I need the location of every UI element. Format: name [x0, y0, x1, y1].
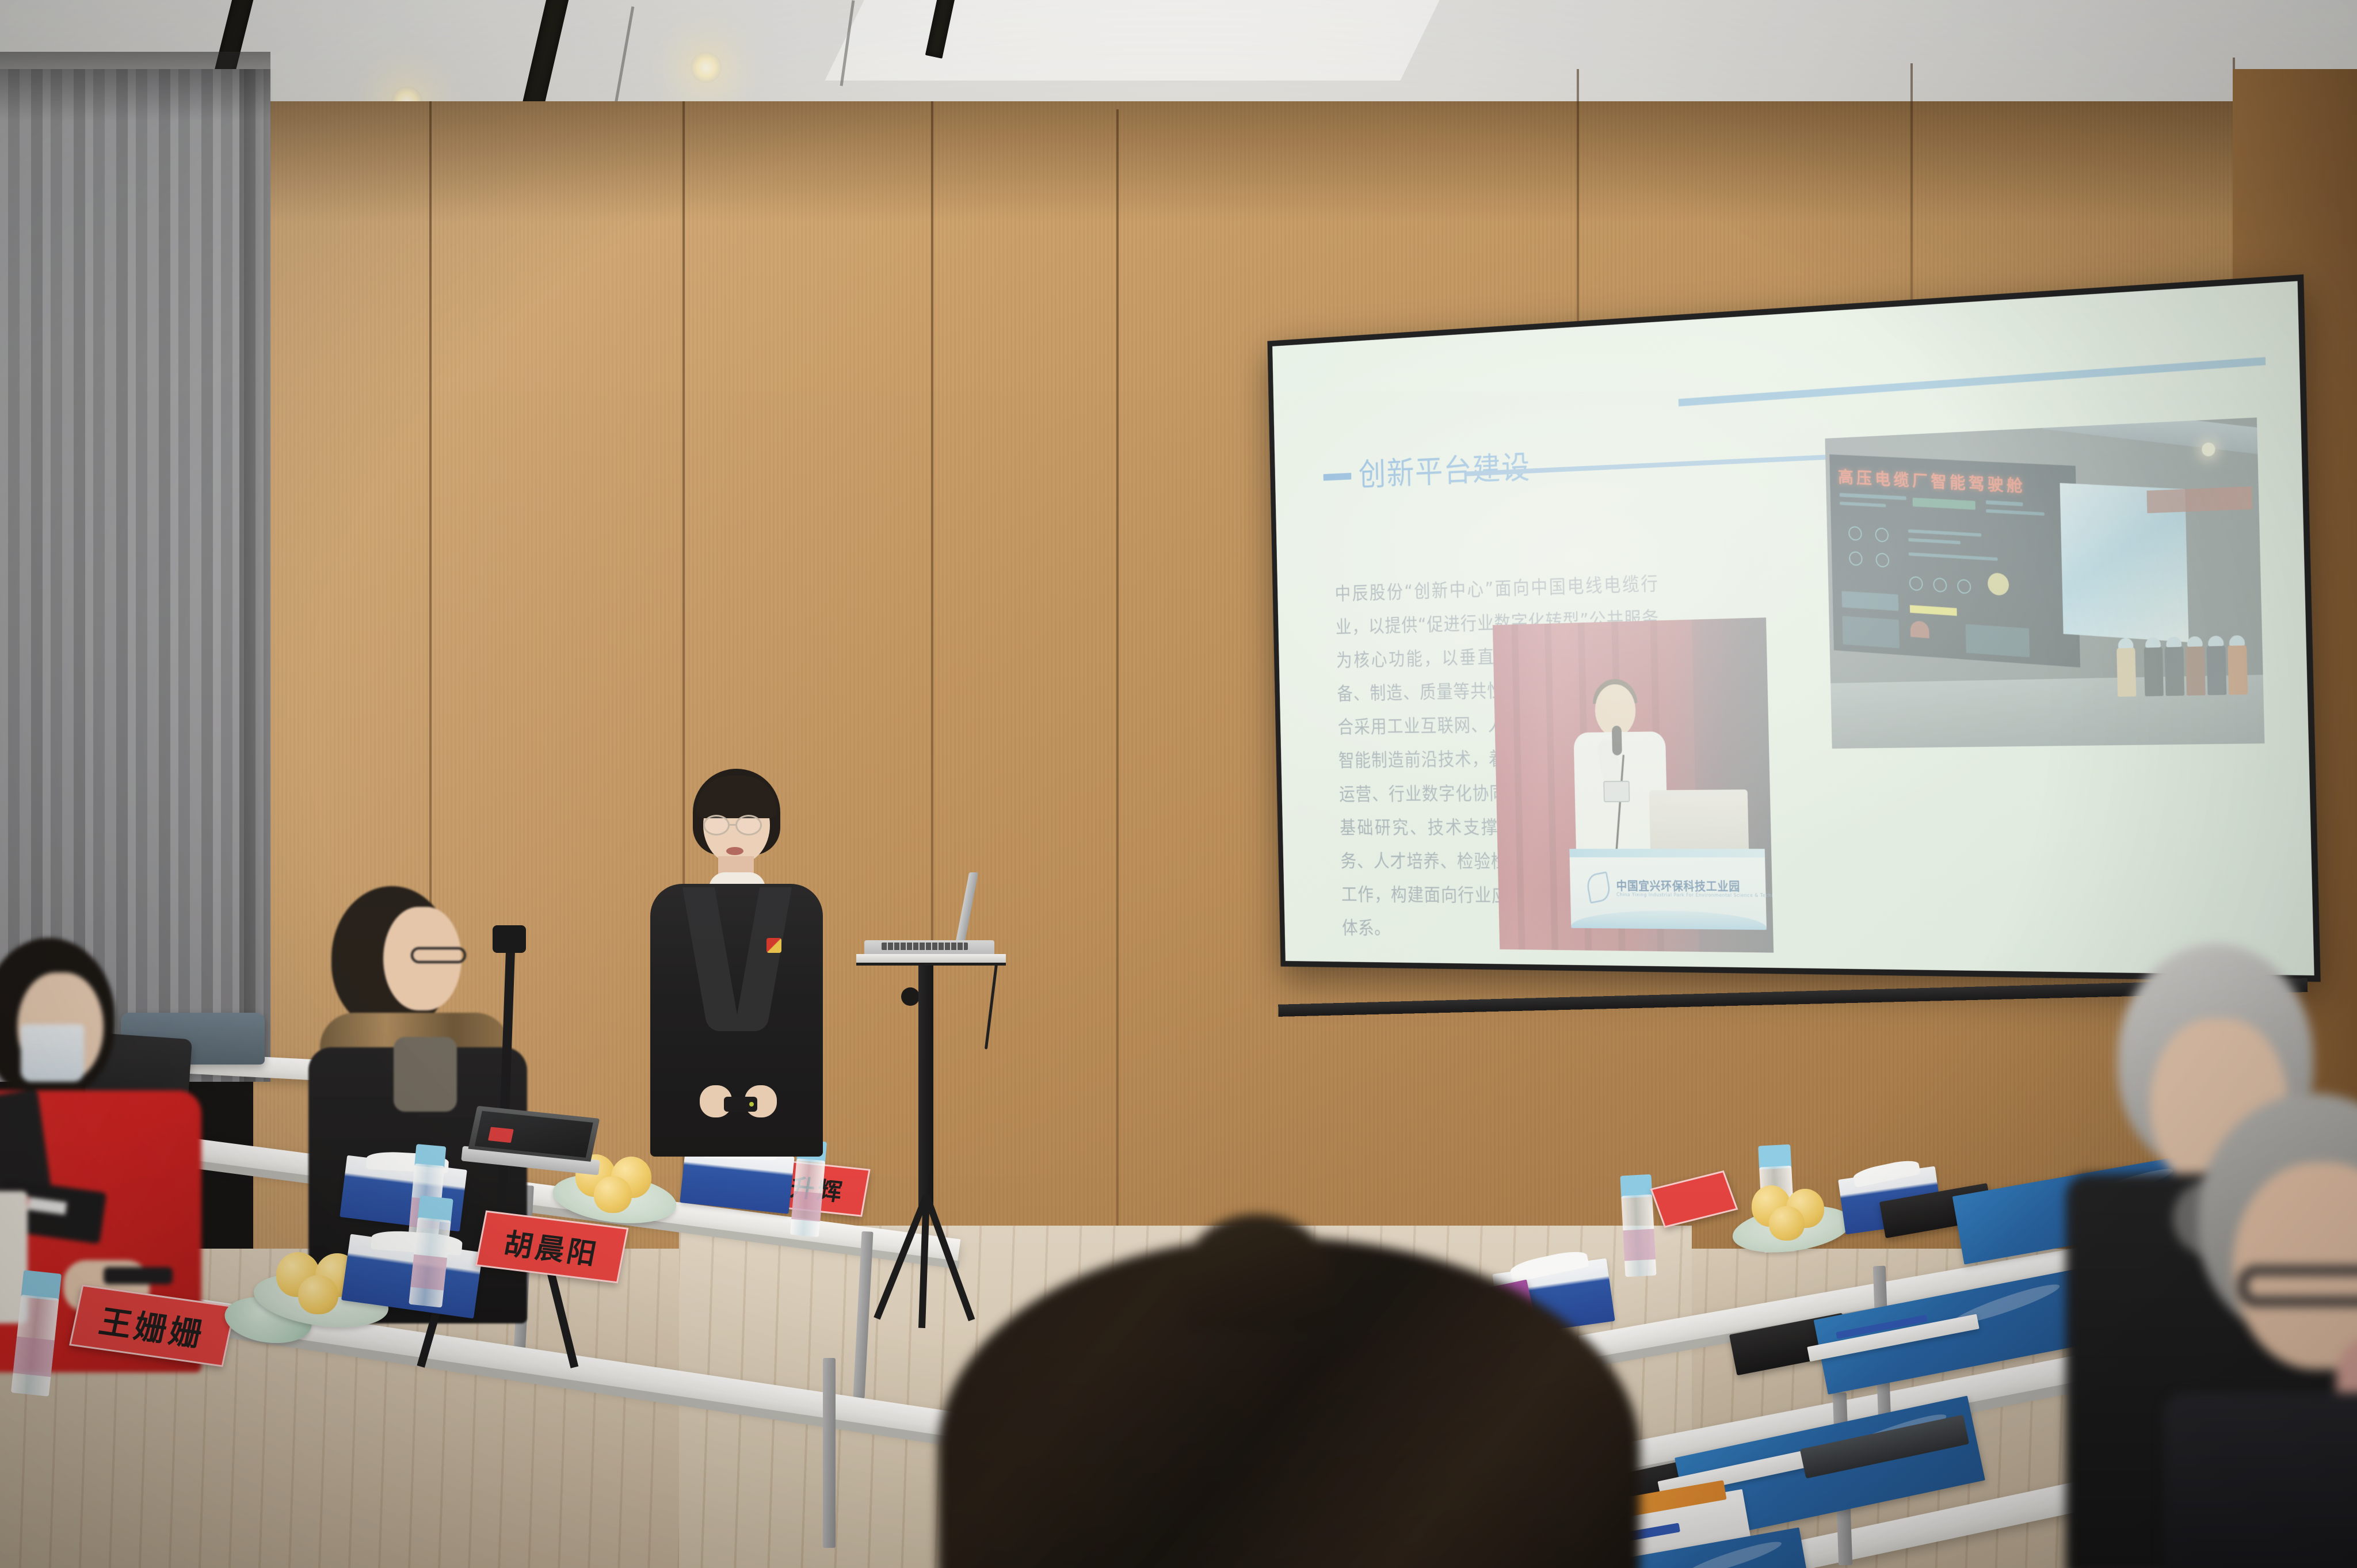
pear-fruit [298, 1275, 338, 1314]
wall-panel-seam [1116, 109, 1119, 1341]
presenter-mouth [726, 847, 743, 855]
projection-screen[interactable]: 创新平台建设 中辰股份“创新中心”面向中国电线电缆行业，以提供“促进行业数字化转… [1267, 274, 2320, 982]
attendee-torso [2164, 1392, 2357, 1568]
conference-room-scene: 创新平台建设 中辰股份“创新中心”面向中国电线电缆行业，以提供“促进行业数字化转… [0, 0, 2357, 1568]
glasses-bridge [730, 824, 737, 826]
worker-figure [2186, 645, 2206, 695]
worker-figure [2206, 644, 2226, 695]
face-mask [21, 1024, 84, 1082]
attendee-hair-crown [1185, 1214, 1329, 1329]
wall-top-shadow [253, 101, 2357, 222]
podium-subtitle-text: China Yixing Industrial Park For Environ… [1616, 892, 1774, 899]
worker-figure [2144, 646, 2163, 696]
hanging-lamp-icon [2202, 442, 2215, 457]
podium-title-text: 中国宜兴环保科技工业园 [1616, 876, 1740, 894]
podium-top-band [1569, 849, 1765, 857]
stand-adjust-knob[interactable] [901, 987, 920, 1006]
slide-photo-factory-control-room: 高压电缆厂智能驾驶舱 [1825, 418, 2264, 749]
curtain-top-shadow [0, 52, 270, 121]
control-room-headline: 高压电缆厂智能驾驶舱 [1838, 463, 2026, 497]
window-curtain [0, 69, 270, 1082]
glasses-icon [735, 815, 762, 835]
control-room-video-wall: 高压电缆厂智能驾驶舱 [1829, 455, 2080, 667]
worker-figure [2116, 647, 2136, 697]
ceiling-skylight-panel [825, 0, 1442, 81]
worker-figure [2165, 646, 2185, 696]
laptop-keyboard[interactable] [882, 943, 968, 950]
attendee-laptop[interactable] [459, 1108, 604, 1191]
stand-column [918, 966, 933, 1207]
ceiling-beam [2043, 418, 2264, 456]
glasses-icon [411, 947, 466, 963]
control-room-banner [2146, 486, 2252, 513]
smartphone[interactable] [104, 1267, 173, 1284]
stand-tray [856, 954, 1006, 966]
power-cord [985, 963, 998, 1049]
presentation-clicker[interactable] [724, 1097, 757, 1112]
presenter [631, 765, 844, 1157]
pear-fruit [594, 1176, 632, 1213]
curtain-edge-shadow [239, 69, 274, 1082]
glasses-icon [2238, 1266, 2357, 1306]
slide-surface: 创新平台建设 中辰股份“创新中心”面向中国电线电缆行业，以提供“促进行业数字化转… [1272, 281, 2314, 975]
podium: 中国宜兴环保科技工业园 China Yixing Industrial Park… [1569, 849, 1767, 930]
attendee-glasses-front [2164, 1093, 2357, 1568]
title-dash-icon [1324, 472, 1352, 480]
microphone-icon [1612, 726, 1622, 756]
slide-top-accent-bar [1679, 357, 2266, 407]
glasses-icon [703, 815, 730, 835]
podium-wave-graphic [1571, 910, 1767, 930]
attendee-foreground-dark-hair [938, 1203, 1640, 1568]
wall-panel-seam [1910, 63, 1913, 339]
pear-fruit [1769, 1206, 1805, 1241]
slide-photo-conference-speaker: 中国宜兴环保科技工业园 China Yixing Industrial Park… [1493, 617, 1774, 952]
turtleneck-collar [394, 1037, 457, 1112]
table-leg [823, 1358, 836, 1548]
light-stand-head [493, 925, 526, 953]
podium-logo-icon [1585, 871, 1612, 903]
speaker-lanyard-badge [1603, 781, 1630, 802]
worker-figure [2228, 644, 2248, 695]
ceiling-spotlight [691, 52, 722, 83]
party-badge-pin [766, 938, 781, 953]
